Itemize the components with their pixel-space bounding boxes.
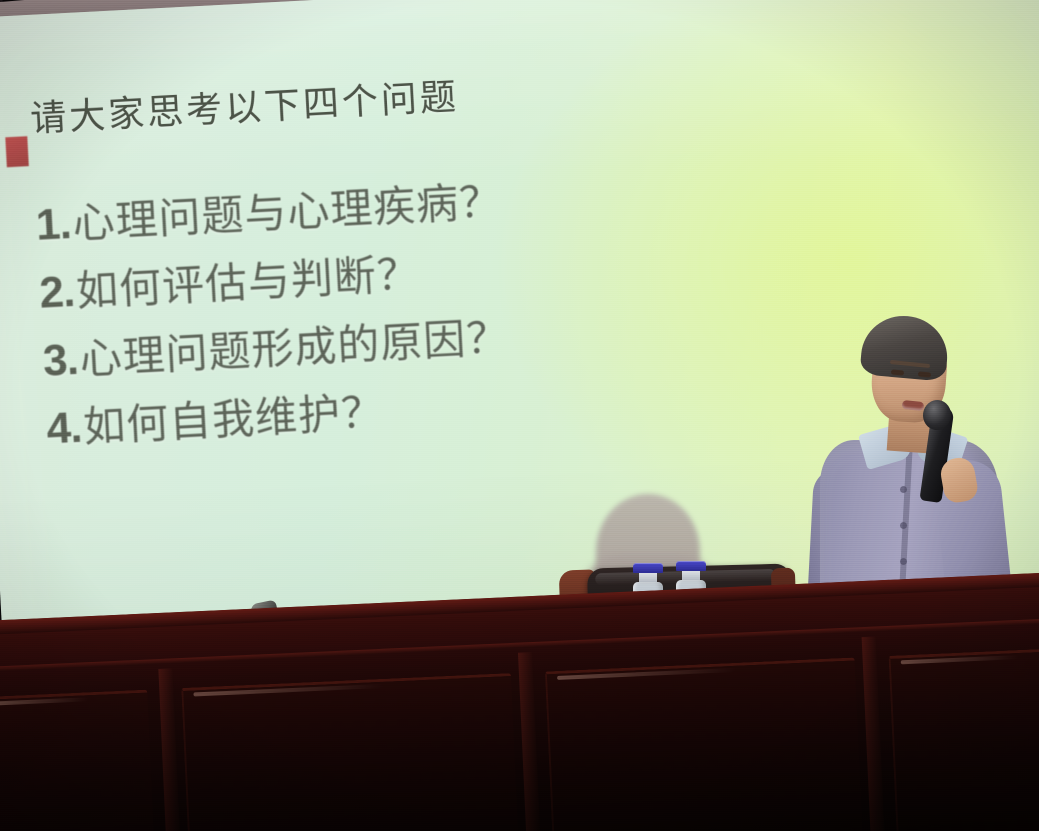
slide-heading: 请大家思考以下四个问题 xyxy=(29,39,1010,142)
list-item-number: 3. xyxy=(42,335,79,387)
panel-stile xyxy=(518,652,542,831)
stage-panel xyxy=(181,673,519,831)
bottle-neck xyxy=(639,573,657,582)
presenter-hair xyxy=(859,312,950,381)
presenter-eye-right xyxy=(918,371,931,377)
slide-corner-mark xyxy=(5,136,29,167)
list-item-number: 4. xyxy=(45,403,82,455)
panel-sheen xyxy=(901,655,1019,664)
panel-sheen xyxy=(0,697,88,705)
stage-panel xyxy=(0,690,156,831)
panel-sheen xyxy=(193,684,383,697)
presenter-eye-left xyxy=(891,369,904,375)
bottle-neck xyxy=(682,571,700,580)
panel-stile xyxy=(158,668,182,831)
list-item-number: 2. xyxy=(38,267,75,319)
panel-sheen xyxy=(557,668,736,680)
list-item-number: 1. xyxy=(35,199,72,251)
shirt-button xyxy=(900,558,907,565)
shirt-button xyxy=(900,486,907,493)
list-item-text: 如何评估与判断？ xyxy=(74,240,421,319)
lecture-hall-photo: 请大家思考以下四个问题 1. 心理问题与心理疾病？ 2. 如何评估与判断？ 3.… xyxy=(0,0,1039,831)
stage-panel xyxy=(545,657,863,831)
bottle-cap xyxy=(633,563,663,573)
list-item-text: 如何自我维护？ xyxy=(82,378,386,455)
panel-stile xyxy=(862,636,886,831)
shirt-button xyxy=(900,522,907,529)
stage-panel xyxy=(888,647,1039,831)
bottle-cap xyxy=(676,561,706,571)
